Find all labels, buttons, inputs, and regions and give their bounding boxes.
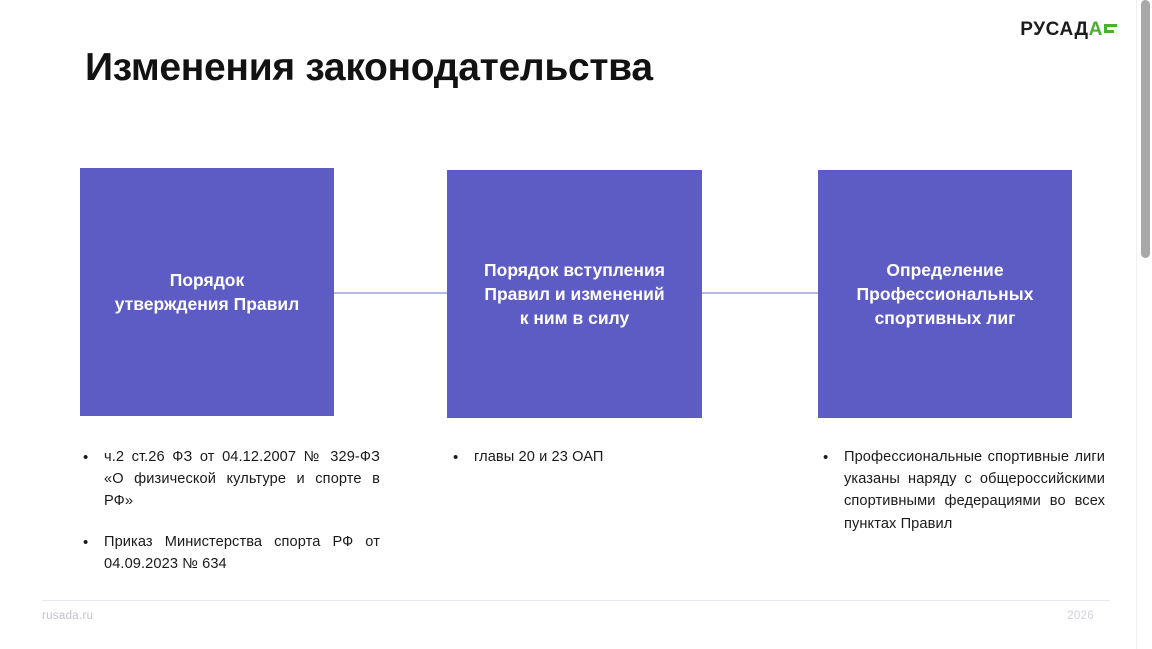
logo-accent-text: А (1089, 20, 1103, 39)
process-box-2: Порядок вступления Правил и изменений к … (447, 170, 702, 418)
footer-divider (42, 600, 1110, 601)
process-box-1: Порядок утверждения Правил (80, 168, 334, 416)
bullet-marker-icon: • (80, 531, 104, 554)
bullet-text: Приказ Министерства спорта РФ от 04.09.2… (104, 531, 380, 575)
process-box-1-label: Порядок утверждения Правил (115, 268, 300, 316)
footer-site-url: rusada.ru (42, 610, 93, 622)
list-item: • Профессиональные спортивные лиги указа… (820, 446, 1105, 535)
bullet-marker-icon: • (450, 446, 474, 469)
process-box-3-label: Определение Профессиональных спортивных … (857, 258, 1034, 330)
bullet-text: главы 20 и 23 ОАП (474, 446, 720, 468)
rusada-logo: РУСАД А (1020, 20, 1117, 39)
bullet-marker-icon: • (80, 446, 104, 469)
list-item: • Приказ Министерства спорта РФ от 04.09… (80, 531, 380, 575)
bullet-text: ч.2 ст.26 ФЗ от 04.12.2007 № 329-ФЗ «О ф… (104, 446, 380, 513)
logo-main-text: РУСАД (1020, 20, 1088, 39)
list-item: • ч.2 ст.26 ФЗ от 04.12.2007 № 329-ФЗ «О… (80, 446, 380, 513)
connector-line-2 (702, 292, 818, 294)
bullet-text: Профессиональные спортивные лиги указаны… (844, 446, 1105, 535)
logo-bar-mark-icon (1104, 21, 1117, 38)
connector-line-1 (334, 292, 447, 294)
page-title: Изменения законодательства (85, 46, 653, 90)
slide-canvas: РУСАД А Изменения законодательства Поряд… (0, 0, 1152, 649)
bullet-column-2: • главы 20 и 23 ОАП (450, 446, 720, 487)
process-box-2-label: Порядок вступления Правил и изменений к … (484, 258, 665, 330)
bullet-marker-icon: • (820, 446, 844, 469)
process-box-3: Определение Профессиональных спортивных … (818, 170, 1072, 418)
vertical-scrollbar[interactable] (1136, 0, 1152, 649)
scrollbar-thumb[interactable] (1141, 0, 1150, 258)
bullet-column-3: • Профессиональные спортивные лиги указа… (820, 446, 1105, 553)
footer-year: 2026 (1067, 610, 1094, 622)
bullet-column-1: • ч.2 ст.26 ФЗ от 04.12.2007 № 329-ФЗ «О… (80, 446, 380, 593)
list-item: • главы 20 и 23 ОАП (450, 446, 720, 469)
